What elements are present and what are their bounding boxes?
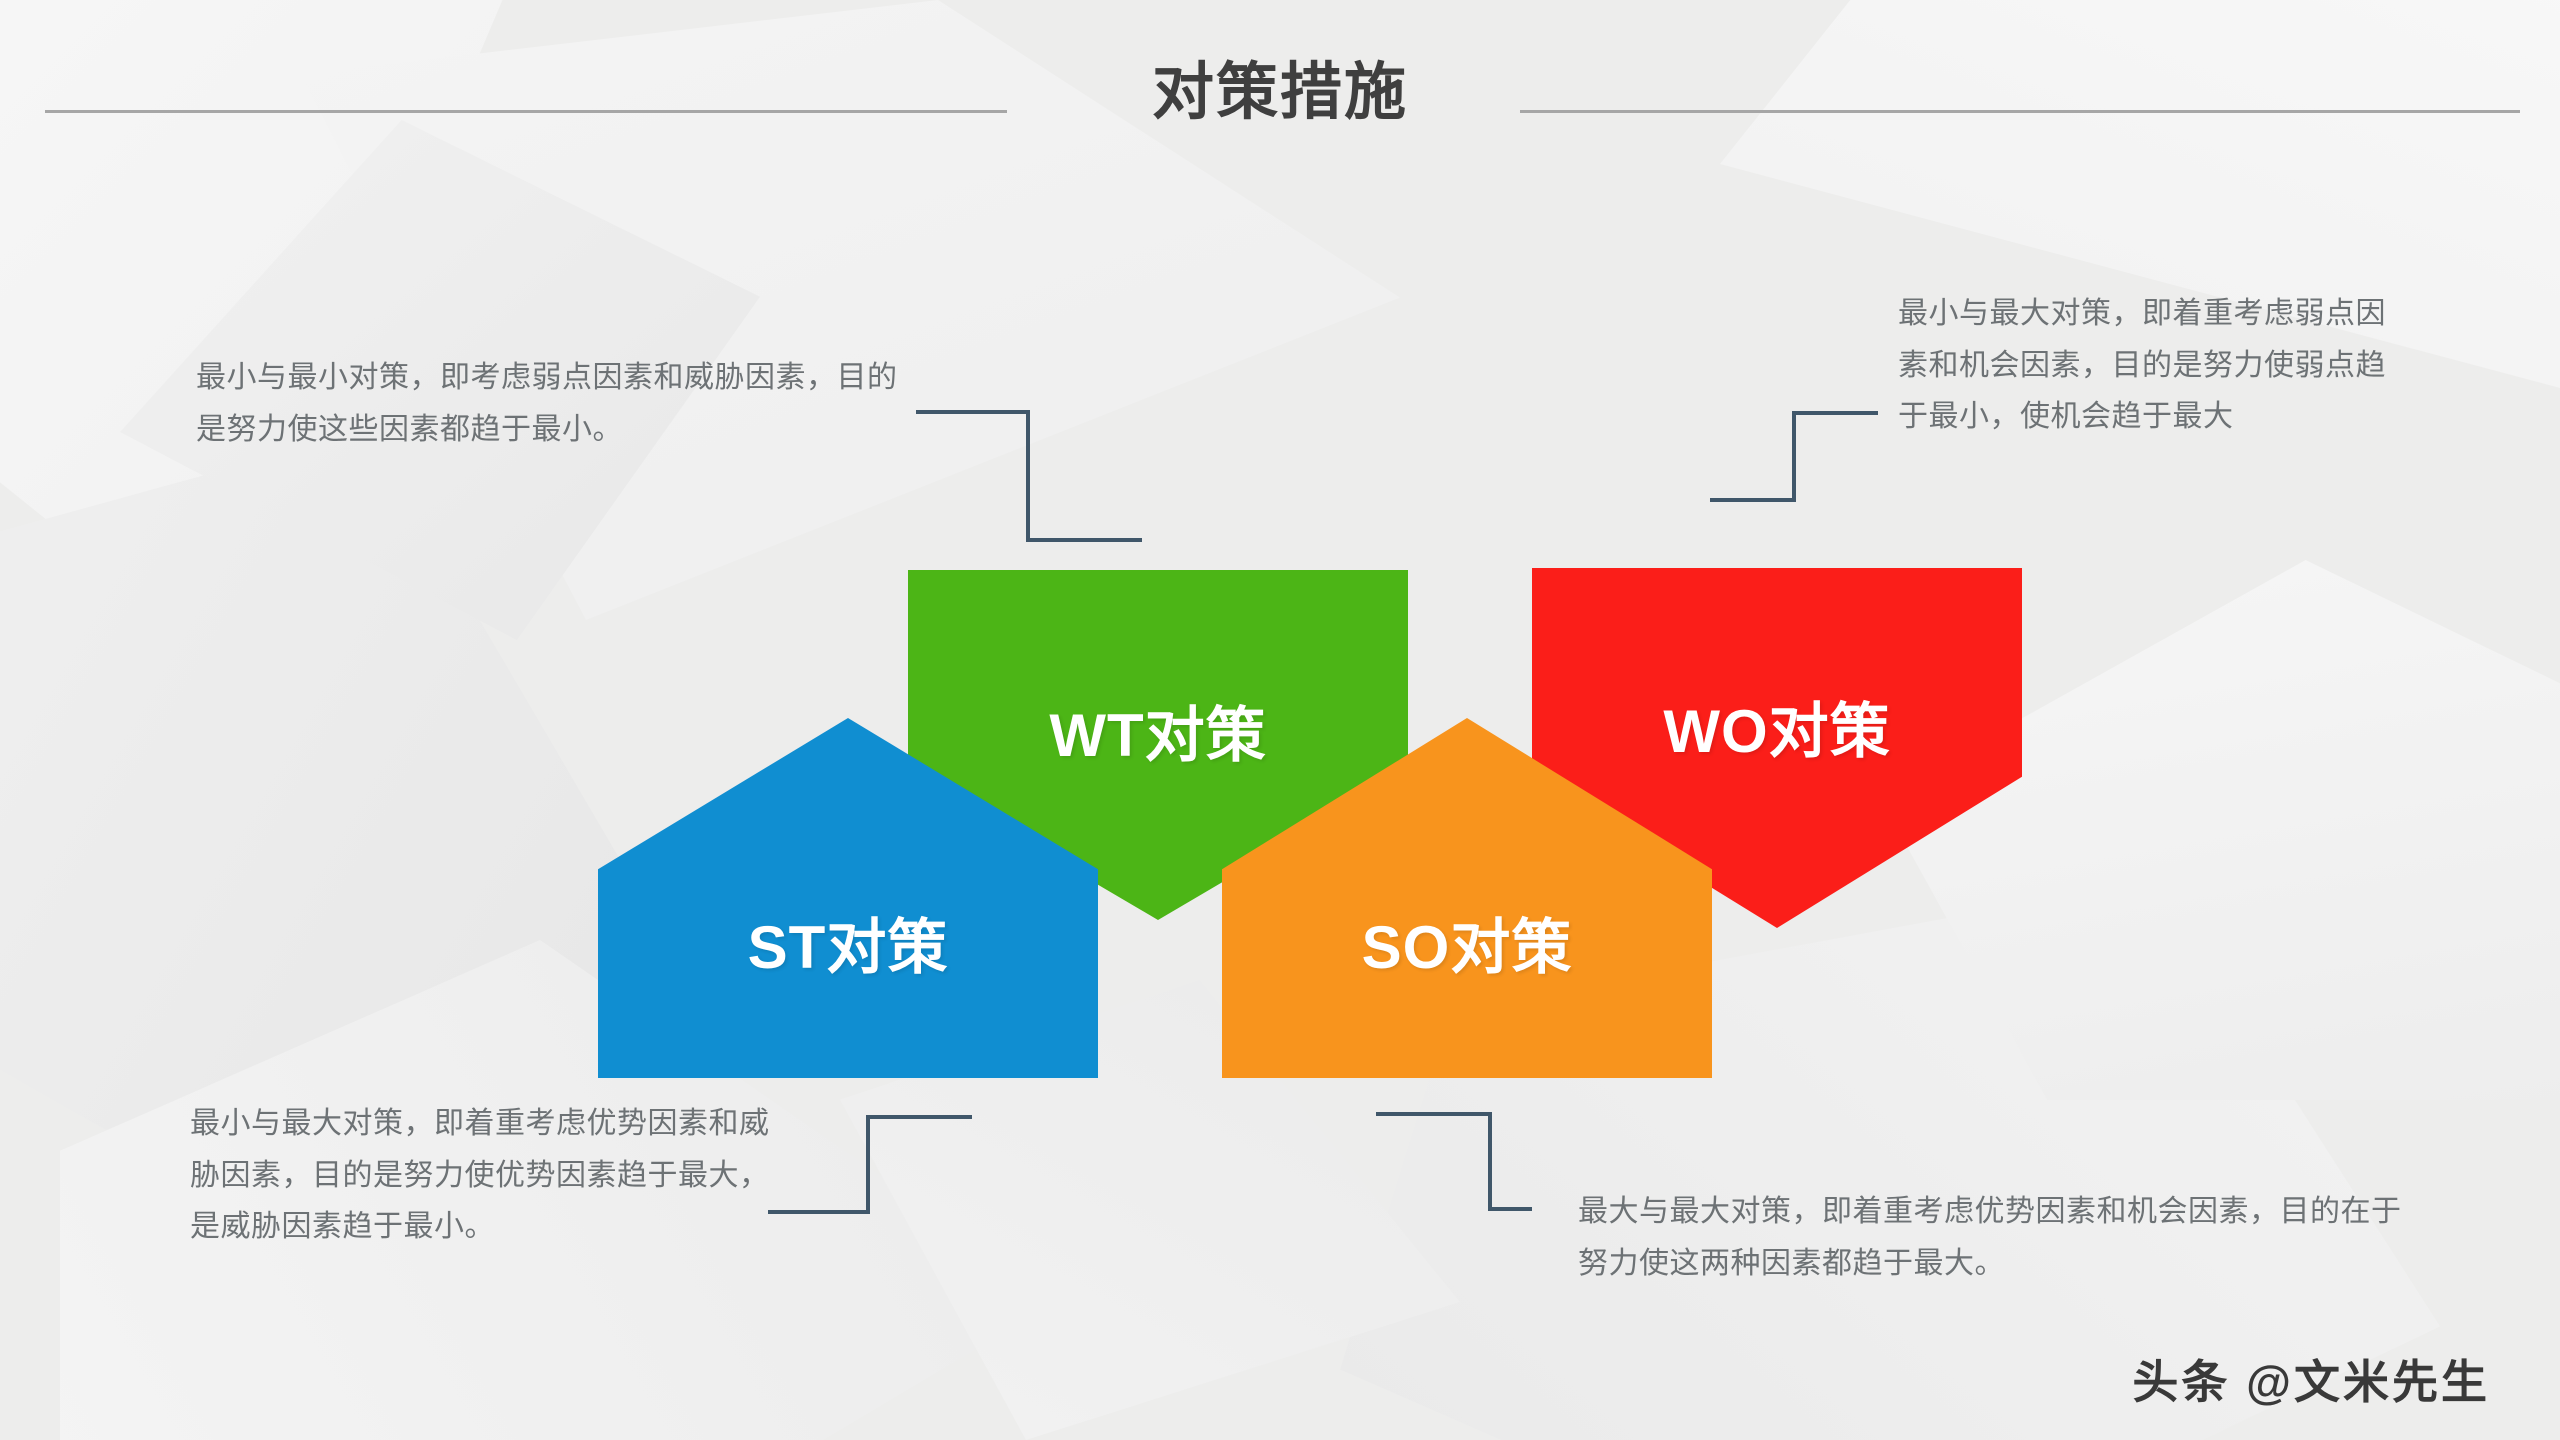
note-wt: 最小与最小对策，即考虑弱点因素和威胁因素，目的是努力使这些因素都趋于最小。: [196, 352, 916, 455]
shape-st-label: ST对策: [748, 899, 949, 986]
shape-wt-label: WT对策: [1049, 687, 1266, 774]
slide-canvas: 对策措施 WT对策 WO对策 ST对策 SO对策 最小与最小对策，即考虑弱点因素…: [0, 0, 2560, 1440]
shape-so-label: SO对策: [1362, 899, 1573, 986]
shape-wo-label: WO对策: [1663, 683, 1890, 770]
note-wo: 最小与最大对策，即着重考虑弱点因素和机会因素，目的是努力使弱点趋于最小，使机会趋…: [1898, 288, 2398, 443]
note-st: 最小与最大对策，即着重考虑优势因素和威胁因素，目的是努力使优势因素趋于最大，是威…: [190, 1098, 780, 1253]
watermark: 头条 @文米先生: [2132, 1346, 2490, 1412]
note-so: 最大与最大对策，即着重考虑优势因素和机会因素，目的在于努力使这两种因素都趋于最大…: [1578, 1186, 2408, 1289]
